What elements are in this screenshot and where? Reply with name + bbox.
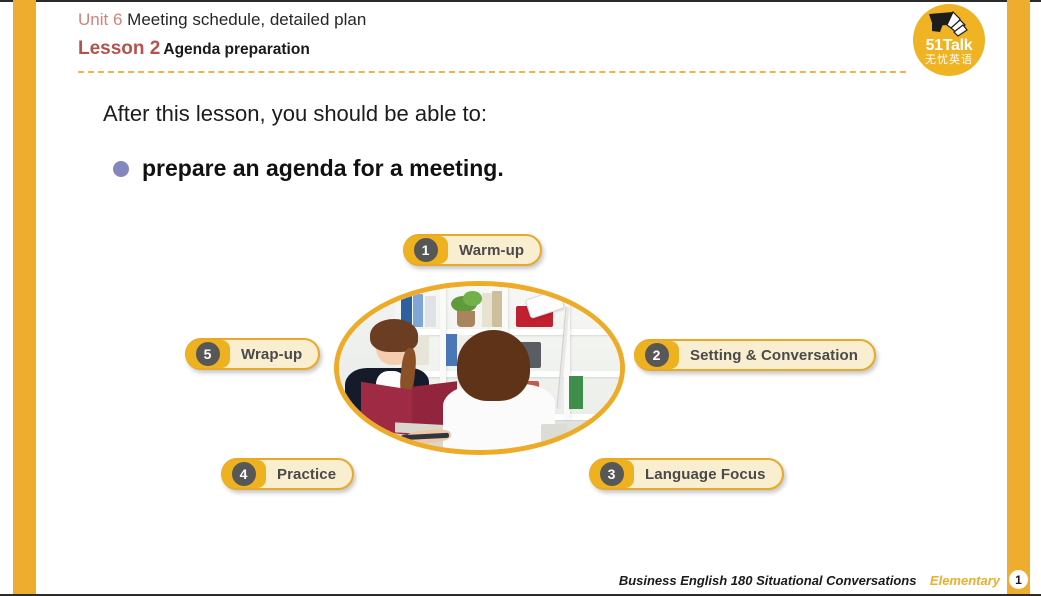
- photo-pen-cup: [541, 424, 566, 444]
- photo-binder: [413, 294, 423, 327]
- stage-pill-wrap-up[interactable]: 5 Wrap-up: [185, 338, 320, 370]
- right-accent-bar: [1007, 0, 1030, 596]
- stage-number: 3: [600, 462, 624, 486]
- footer-course-level: Elementary: [930, 573, 1000, 588]
- stage-pill-setting-conversation[interactable]: 2 Setting & Conversation: [634, 339, 876, 371]
- unit-title: Meeting schedule, detailed plan: [127, 10, 366, 29]
- left-accent-bar: [13, 0, 36, 596]
- objective-item: prepare an agenda for a meeting.: [113, 155, 504, 182]
- stage-label: Warm-up: [459, 242, 524, 259]
- bullet-icon: [113, 161, 129, 177]
- photo-person-right-hair: [457, 330, 530, 401]
- stage-number-badge: 5: [185, 340, 230, 368]
- photo-person-left-hair: [370, 319, 418, 352]
- brand-name: 51Talk: [913, 37, 985, 54]
- page-number-badge: 1: [1007, 568, 1030, 591]
- photo-binder: [569, 376, 583, 409]
- header-divider: [78, 71, 906, 73]
- lesson-title: Agenda preparation: [163, 41, 309, 58]
- graduation-cap-icon: [927, 11, 969, 39]
- photo-binder: [492, 291, 502, 327]
- lesson-line: Lesson 2Agenda preparation: [78, 37, 908, 62]
- stage-label: Setting & Conversation: [690, 347, 858, 364]
- photo-binder: [482, 293, 492, 327]
- stage-number-badge: 4: [221, 460, 266, 488]
- footer-course-title: Business English 180 Situational Convers…: [619, 573, 917, 588]
- stage-label: Wrap-up: [241, 346, 302, 363]
- stage-pill-warm-up[interactable]: 1 Warm-up: [403, 234, 542, 266]
- stage-number-badge: 2: [634, 341, 679, 369]
- stage-pill-language-focus[interactable]: 3 Language Focus: [589, 458, 784, 490]
- stage-pill-practice[interactable]: 4 Practice: [221, 458, 354, 490]
- photo-plant-pot: [457, 311, 475, 327]
- brand-logo: 51Talk 无忧英语: [913, 4, 985, 76]
- stage-number: 5: [196, 342, 220, 366]
- slide-canvas: Unit 6 Meeting schedule, detailed plan L…: [0, 0, 1041, 596]
- stage-number: 1: [414, 238, 438, 262]
- slide-footer: Business English 180 Situational Convers…: [0, 572, 1000, 590]
- stage-number: 2: [645, 343, 669, 367]
- unit-label: Unit 6: [78, 10, 122, 29]
- page-number: 1: [1009, 570, 1028, 589]
- stage-number-badge: 1: [403, 236, 448, 264]
- stage-label: Practice: [277, 466, 336, 483]
- stage-label: Language Focus: [645, 466, 766, 483]
- objective-intro: After this lesson, you should be able to…: [103, 101, 487, 127]
- photo-binder: [446, 334, 457, 367]
- photo-binder: [425, 296, 436, 327]
- top-border: [0, 0, 1041, 2]
- lesson-label: Lesson 2: [78, 38, 160, 59]
- lesson-photo: [334, 281, 625, 455]
- slide-header: Unit 6 Meeting schedule, detailed plan L…: [78, 8, 908, 62]
- brand-name-cn: 无忧英语: [913, 54, 985, 67]
- stage-number: 4: [232, 462, 256, 486]
- photo-plant-leaves: [463, 291, 483, 306]
- objective-text: prepare an agenda for a meeting.: [142, 155, 504, 182]
- stage-number-badge: 3: [589, 460, 634, 488]
- unit-line: Unit 6 Meeting schedule, detailed plan: [78, 8, 908, 32]
